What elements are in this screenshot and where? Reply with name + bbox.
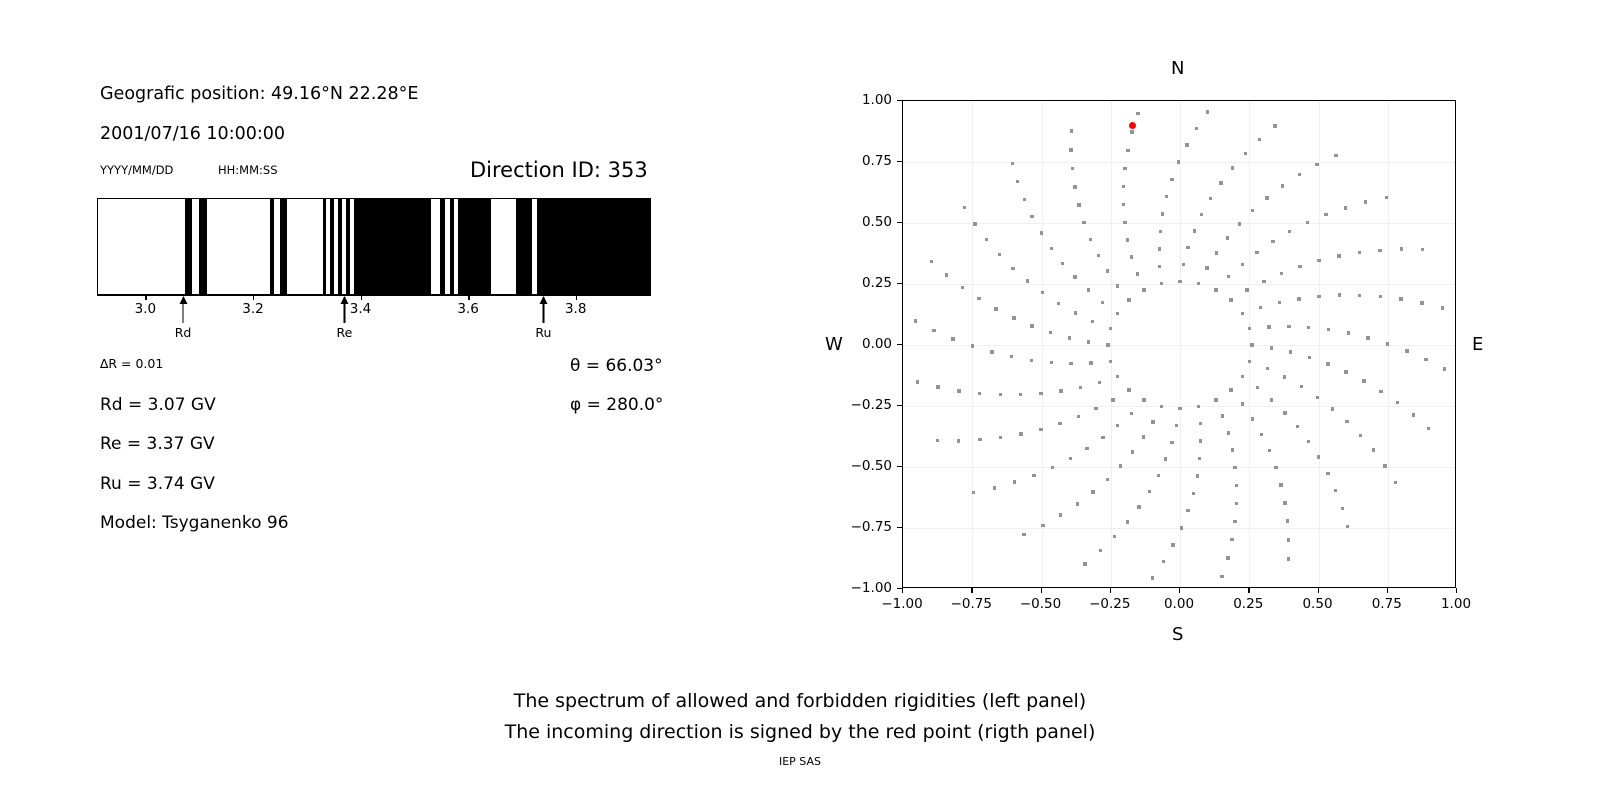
direction-dot xyxy=(1131,450,1134,453)
direction-dot xyxy=(1214,398,1217,401)
direction-dot xyxy=(1385,196,1388,199)
direction-dot xyxy=(1050,361,1053,364)
direction-dot xyxy=(1280,272,1283,275)
direction-dot xyxy=(1270,398,1273,401)
x-axis-tick xyxy=(1248,588,1249,593)
forbidden-band xyxy=(440,199,446,294)
caption-line-2: The incoming direction is signed by the … xyxy=(0,717,1600,748)
direction-dot xyxy=(1196,474,1199,477)
direction-dot xyxy=(1057,302,1060,305)
param-ru: Ru = 3.74 GV xyxy=(100,474,215,494)
direction-dot xyxy=(985,238,988,241)
direction-dot xyxy=(1074,311,1077,314)
x-axis-tick-label: −1.00 xyxy=(881,596,922,612)
direction-dot xyxy=(1116,312,1119,315)
direction-dot xyxy=(963,206,966,209)
direction-dot xyxy=(1059,513,1062,516)
direction-dot xyxy=(1341,507,1344,510)
direction-dot xyxy=(1076,502,1079,505)
direction-dot xyxy=(1083,562,1086,565)
y-axis-tick-label: −1.00 xyxy=(830,580,892,596)
x-axis-tick xyxy=(971,588,972,593)
direction-dot xyxy=(1186,509,1189,512)
direction-dot xyxy=(1255,251,1258,254)
spectrum-axis-tick-label: 3.6 xyxy=(457,301,478,317)
gridline-horizontal xyxy=(903,223,1455,224)
direction-dot xyxy=(1073,185,1076,188)
x-axis-tick-label: 0.75 xyxy=(1372,596,1402,612)
caption-line-1: The spectrum of allowed and forbidden ri… xyxy=(0,686,1600,717)
spectrum-axis-tick xyxy=(361,295,362,300)
direction-dot xyxy=(1195,127,1198,130)
datetime-label: 2001/07/16 10:00:00 xyxy=(100,124,285,144)
spectrum-axis-tick-label: 3.4 xyxy=(350,301,371,317)
direction-dot xyxy=(1298,265,1301,268)
direction-dot xyxy=(1317,259,1320,262)
direction-dot xyxy=(1379,390,1382,393)
direction-dot xyxy=(1358,294,1361,297)
y-axis-tick-label: −0.75 xyxy=(830,519,892,535)
direction-dot xyxy=(1077,203,1080,206)
x-axis-tick xyxy=(1318,588,1319,593)
direction-dot xyxy=(1283,375,1286,378)
direction-dot xyxy=(1287,325,1290,328)
direction-dot xyxy=(1260,433,1263,436)
rigidity-spectrum-chart xyxy=(97,198,651,295)
direction-dot xyxy=(1162,560,1165,563)
x-axis-tick-label: 0.50 xyxy=(1302,596,1332,612)
direction-dot xyxy=(1205,266,1208,269)
spectrum-axis-tick-label: 3.8 xyxy=(565,301,586,317)
direction-dot xyxy=(957,439,960,442)
footer-label: IEP SAS xyxy=(0,755,1600,768)
direction-dot xyxy=(1266,367,1269,370)
direction-dot xyxy=(1058,422,1061,425)
direction-dot xyxy=(1101,436,1104,439)
direction-dot xyxy=(1379,295,1382,298)
direction-dot xyxy=(1248,327,1251,330)
direction-dot xyxy=(1199,439,1202,442)
direction-dot xyxy=(1267,325,1270,328)
spectrum-axis-tick xyxy=(145,295,146,300)
direction-dot xyxy=(930,260,933,263)
direction-dot xyxy=(1151,420,1154,423)
direction-dot xyxy=(1123,167,1126,170)
gridline-vertical xyxy=(1042,101,1043,587)
direction-dot xyxy=(1227,431,1230,434)
direction-dot xyxy=(1158,265,1161,268)
direction-dot xyxy=(1214,288,1217,291)
direction-dot xyxy=(1316,396,1319,399)
direction-dot xyxy=(1091,490,1094,493)
direction-dot xyxy=(1229,388,1232,391)
param-delta-r: ∆R = 0.01 xyxy=(100,356,163,371)
direction-dot xyxy=(1116,284,1119,287)
x-axis-tick xyxy=(902,588,903,593)
spectrum-axis-tick-label: 3.2 xyxy=(242,301,263,317)
direction-dot xyxy=(1185,143,1188,146)
y-axis-tick-label: 0.75 xyxy=(830,153,892,169)
direction-dot xyxy=(1161,212,1164,215)
direction-dot xyxy=(1192,492,1195,495)
y-axis-tick-label: −0.50 xyxy=(830,458,892,474)
direction-dot xyxy=(936,385,939,388)
direction-dot xyxy=(1178,280,1181,283)
direction-dot xyxy=(1012,316,1015,319)
direction-dot xyxy=(1271,240,1274,243)
direction-dot xyxy=(1443,367,1446,370)
direction-dot xyxy=(1023,198,1026,201)
direction-dot xyxy=(1148,490,1151,493)
x-axis-tick xyxy=(1041,588,1042,593)
direction-dot xyxy=(1344,370,1347,373)
direction-dot xyxy=(1283,411,1286,414)
direction-dot xyxy=(1070,129,1073,132)
direction-dot xyxy=(1094,407,1097,410)
direction-dot xyxy=(1160,405,1163,408)
forbidden-band xyxy=(346,199,349,294)
y-axis-tick xyxy=(897,527,902,528)
direction-dot xyxy=(1022,533,1025,536)
spectrum-axis-tick xyxy=(576,295,577,300)
incoming-direction-point xyxy=(1129,122,1136,129)
geographic-position-label: Geografic position: 49.16°N 22.28°E xyxy=(100,84,418,104)
direction-dot xyxy=(1126,149,1129,152)
marker-arrow-re xyxy=(338,297,351,323)
direction-dot xyxy=(1256,386,1259,389)
forbidden-band xyxy=(354,199,431,294)
marker-label-ru: Ru xyxy=(535,325,551,340)
direction-dot xyxy=(1011,267,1014,270)
direction-dot xyxy=(1197,282,1200,285)
x-axis-tick-label: 0.00 xyxy=(1164,596,1194,612)
direction-dot xyxy=(1039,392,1042,395)
direction-dot xyxy=(1041,291,1044,294)
direction-dot xyxy=(1136,112,1139,115)
direction-dot xyxy=(1226,236,1229,239)
direction-dot xyxy=(1019,393,1022,396)
direction-dot xyxy=(957,389,960,392)
direction-dot xyxy=(1270,346,1273,349)
direction-dot xyxy=(1061,262,1064,265)
direction-dot xyxy=(1287,557,1290,560)
direction-dot xyxy=(1119,464,1122,467)
direction-dot xyxy=(1142,435,1145,438)
direction-dot xyxy=(914,319,917,322)
direction-dot xyxy=(1221,414,1224,417)
y-axis-tick xyxy=(897,222,902,223)
direction-dot xyxy=(1326,362,1329,365)
direction-dot xyxy=(1268,449,1271,452)
polar-scatter-plot xyxy=(902,100,1456,588)
direction-dot xyxy=(1394,481,1397,484)
direction-dot xyxy=(1372,448,1375,451)
direction-dot xyxy=(1327,328,1330,331)
direction-dot xyxy=(1250,343,1253,346)
direction-dot xyxy=(1069,148,1072,151)
y-axis-tick xyxy=(897,283,902,284)
direction-dot xyxy=(1306,221,1309,224)
direction-dot xyxy=(1344,206,1347,209)
direction-dot xyxy=(1198,457,1201,460)
direction-dot xyxy=(1274,466,1277,469)
direction-dot xyxy=(973,222,976,225)
direction-dot xyxy=(1109,360,1112,363)
direction-dot xyxy=(1227,275,1230,278)
direction-dot xyxy=(1039,428,1042,431)
forbidden-band xyxy=(199,199,207,294)
direction-dot xyxy=(1220,575,1223,578)
spectrum-axis-tick xyxy=(253,295,254,300)
direction-dot xyxy=(1165,195,1168,198)
direction-dot xyxy=(998,253,1001,256)
marker-arrow-ru xyxy=(537,297,550,323)
direction-dot xyxy=(1123,221,1126,224)
direction-dot xyxy=(1011,162,1014,165)
direction-dot xyxy=(1127,298,1130,301)
x-axis-tick-label: 1.00 xyxy=(1441,596,1471,612)
direction-dot xyxy=(1235,484,1238,487)
direction-dot xyxy=(1383,464,1386,467)
direction-dot xyxy=(1050,247,1053,250)
direction-dot xyxy=(1030,359,1033,362)
x-axis-tick xyxy=(1110,588,1111,593)
direction-dot xyxy=(1298,173,1301,176)
x-axis-tick xyxy=(1387,588,1388,593)
direction-dot xyxy=(1366,336,1369,339)
direction-dot xyxy=(1288,230,1291,233)
direction-dot xyxy=(1157,474,1160,477)
direction-dot xyxy=(1241,263,1244,266)
direction-dot xyxy=(999,436,1002,439)
direction-dot xyxy=(993,486,996,489)
direction-dot xyxy=(1106,478,1109,481)
direction-dot xyxy=(1178,407,1181,410)
direction-dot xyxy=(1265,196,1268,199)
gridline-vertical xyxy=(1319,101,1320,587)
direction-dot xyxy=(945,273,948,276)
gridline-horizontal xyxy=(903,284,1455,285)
figure-caption: The spectrum of allowed and forbidden ri… xyxy=(0,686,1600,748)
direction-dot xyxy=(1182,263,1185,266)
direction-dot xyxy=(1175,424,1178,427)
direction-dot xyxy=(1193,229,1196,232)
param-rd: Rd = 3.07 GV xyxy=(100,395,216,415)
direction-dot xyxy=(1049,331,1052,334)
direction-dot xyxy=(1241,375,1244,378)
direction-dot xyxy=(1258,138,1261,141)
direction-dot xyxy=(1137,505,1140,508)
direction-dot xyxy=(951,337,954,340)
direction-dot xyxy=(1281,184,1284,187)
direction-dot xyxy=(1127,388,1130,391)
direction-dot xyxy=(1016,180,1019,183)
direction-dot xyxy=(1215,251,1218,254)
direction-dot xyxy=(1091,320,1094,323)
direction-dot xyxy=(1421,248,1424,251)
direction-dot xyxy=(1106,269,1109,272)
gridline-horizontal xyxy=(903,467,1455,468)
direction-dot xyxy=(1180,526,1183,529)
forbidden-band xyxy=(323,199,326,294)
date-format-hint: YYYY/MM/DD xyxy=(100,163,173,177)
direction-dot xyxy=(1079,386,1082,389)
direction-dot xyxy=(1019,432,1022,435)
direction-dot xyxy=(1226,556,1229,559)
y-axis-tick xyxy=(897,405,902,406)
direction-dot xyxy=(1085,447,1088,450)
direction-dot xyxy=(1111,398,1114,401)
direction-dot xyxy=(1359,434,1362,437)
direction-dot xyxy=(1364,200,1367,203)
direction-dot xyxy=(1233,466,1236,469)
time-format-hint: HH:MM:SS xyxy=(218,163,278,177)
gridline-horizontal xyxy=(903,345,1455,346)
direction-dot xyxy=(1296,425,1299,428)
direction-dot xyxy=(1032,474,1035,477)
direction-dot xyxy=(1206,110,1209,113)
marker-arrow-rd xyxy=(177,297,190,323)
direction-dot xyxy=(1289,350,1292,353)
direction-dot xyxy=(1160,282,1163,285)
direction-dot xyxy=(1051,466,1054,469)
direction-dot xyxy=(1345,420,1348,423)
direction-dot xyxy=(932,329,935,332)
direction-dot xyxy=(1170,178,1173,181)
direction-dot xyxy=(1315,163,1318,166)
direction-dot xyxy=(1347,331,1350,334)
forbidden-band xyxy=(185,199,192,294)
direction-dot xyxy=(1251,417,1254,420)
direction-dot xyxy=(1334,154,1337,157)
direction-dot xyxy=(1199,422,1202,425)
direction-dot xyxy=(1400,247,1403,250)
direction-dot xyxy=(1113,535,1116,538)
direction-dot xyxy=(1130,130,1133,133)
direction-dot xyxy=(972,491,975,494)
compass-north-label: N xyxy=(1171,58,1184,79)
spectrum-bar xyxy=(97,198,651,295)
direction-dot xyxy=(961,286,964,289)
direction-dot xyxy=(1069,362,1072,365)
param-theta: θ = 66.03° xyxy=(570,356,663,376)
direction-dot xyxy=(1098,381,1101,384)
direction-dot xyxy=(1317,295,1320,298)
y-axis-tick xyxy=(897,100,902,101)
direction-dot xyxy=(1101,301,1104,304)
direction-dot xyxy=(1099,549,1102,552)
y-axis-tick-label: 0.50 xyxy=(830,214,892,230)
direction-dot xyxy=(1097,254,1100,257)
direction-dot xyxy=(1068,336,1071,339)
direction-dot xyxy=(1151,576,1154,579)
direction-dot xyxy=(1089,361,1092,364)
direction-dot xyxy=(1041,524,1044,527)
direction-dot xyxy=(1130,412,1133,415)
x-axis-tick xyxy=(1456,588,1457,593)
direction-dot xyxy=(1231,448,1234,451)
direction-dot xyxy=(1396,401,1399,404)
direction-dot xyxy=(1326,472,1329,475)
direction-dot xyxy=(978,392,981,395)
direction-dot xyxy=(1030,324,1033,327)
direction-dot xyxy=(1209,197,1212,200)
direction-dot xyxy=(1362,379,1365,382)
direction-dot xyxy=(1412,413,1415,416)
forbidden-band xyxy=(450,199,454,294)
direction-dot xyxy=(1142,398,1145,401)
x-axis-tick-label: −0.25 xyxy=(1089,596,1130,612)
direction-dot xyxy=(1424,358,1427,361)
direction-dot xyxy=(1229,298,1232,301)
direction-dot xyxy=(1106,343,1109,346)
direction-dot xyxy=(1405,349,1408,352)
forbidden-band xyxy=(270,199,274,294)
direction-dot xyxy=(1287,538,1290,541)
y-axis-tick-label: 0.25 xyxy=(830,275,892,291)
direction-dot xyxy=(1231,166,1234,169)
direction-dot xyxy=(1200,213,1203,216)
y-axis-tick xyxy=(897,466,902,467)
direction-dot xyxy=(1159,230,1162,233)
direction-dot xyxy=(1273,124,1276,127)
direction-dot xyxy=(1130,255,1133,258)
direction-dot xyxy=(1248,360,1251,363)
direction-dot xyxy=(1171,543,1174,546)
x-axis-tick-label: −0.75 xyxy=(951,596,992,612)
direction-dot xyxy=(1026,279,1029,282)
direction-dot xyxy=(1013,480,1016,483)
direction-dot xyxy=(1279,483,1282,486)
direction-dot xyxy=(1238,222,1241,225)
direction-dot xyxy=(1317,455,1320,458)
direction-dot xyxy=(1040,231,1043,234)
direction-dot xyxy=(1241,312,1244,315)
spectrum-axis-tick xyxy=(468,295,469,300)
forbidden-band xyxy=(280,199,288,294)
direction-dot xyxy=(1338,293,1341,296)
compass-west-label: W xyxy=(825,334,843,355)
x-axis-tick-label: 0.25 xyxy=(1233,596,1263,612)
spectrum-panel: Geografic position: 49.16°N 22.28°E 2001… xyxy=(0,0,700,620)
forbidden-band xyxy=(330,199,334,294)
direction-dot xyxy=(1307,440,1310,443)
direction-dot xyxy=(1308,356,1311,359)
direction-dot xyxy=(1082,221,1085,224)
direction-dot xyxy=(994,307,997,310)
direction-dot xyxy=(936,439,939,442)
direction-dot xyxy=(1358,251,1361,254)
y-axis-tick xyxy=(897,344,902,345)
forbidden-band xyxy=(458,199,490,294)
direction-dot xyxy=(1420,301,1423,304)
direction-dot xyxy=(1337,254,1340,257)
direction-dot xyxy=(1346,525,1349,528)
direction-dot xyxy=(1077,415,1080,418)
compass-east-label: E xyxy=(1472,334,1483,355)
direction-dot xyxy=(1071,167,1074,170)
direction-dot xyxy=(1297,297,1300,300)
direction-dot xyxy=(1030,215,1033,218)
direction-dot xyxy=(1399,297,1402,300)
direction-dot xyxy=(1136,272,1139,275)
direction-dot xyxy=(916,380,919,383)
direction-dot xyxy=(1177,160,1180,163)
direction-dot xyxy=(1331,407,1334,410)
direction-dot xyxy=(990,350,993,353)
forbidden-band xyxy=(516,199,531,294)
compass-south-label: S xyxy=(1172,624,1183,645)
